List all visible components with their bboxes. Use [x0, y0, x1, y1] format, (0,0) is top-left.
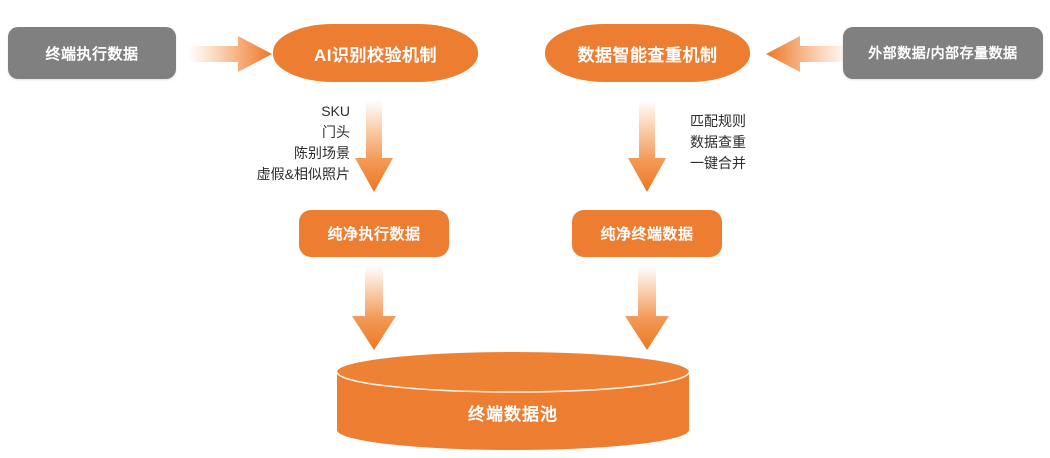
- source-box-label: 外部数据/内部存量数据: [868, 43, 1017, 63]
- criteria-item: SKU: [190, 101, 350, 122]
- arrow-mechanism-left-to-result: [355, 100, 393, 192]
- arrow-result-right-to-pool: [625, 266, 669, 350]
- criteria-item: 一键合并: [690, 153, 850, 174]
- source-box-external-internal-data[interactable]: 外部数据/内部存量数据: [843, 27, 1043, 79]
- criteria-item: 匹配规则: [690, 111, 850, 132]
- source-box-label: 终端执行数据: [45, 43, 138, 64]
- criteria-item: 数据查重: [690, 132, 850, 153]
- criteria-item: 陈别场景: [190, 143, 350, 164]
- criteria-item: 门头: [190, 122, 350, 143]
- diagram-canvas: 终端执行数据 AI识别校验机制 数据智能查重机制: [0, 0, 1050, 458]
- mechanism-label: 数据智能查重机制: [578, 41, 718, 66]
- arrow-mechanism-right-to-result: [628, 100, 666, 192]
- mechanism-data-dedup[interactable]: 数据智能查重机制: [545, 24, 750, 82]
- criteria-item: 虚假&相似照片: [190, 164, 350, 185]
- result-box-label: 纯净执行数据: [327, 223, 420, 244]
- arrow-source-left-to-mechanism: [188, 36, 272, 72]
- result-box-clean-execution-data[interactable]: 纯净执行数据: [299, 210, 449, 257]
- source-box-terminal-execution-data[interactable]: 终端执行数据: [8, 27, 176, 79]
- criteria-list-left: SKU 门头 陈别场景 虚假&相似照片: [190, 101, 350, 185]
- result-box-label: 纯净终端数据: [600, 223, 693, 244]
- arrow-result-left-to-pool: [352, 266, 396, 350]
- arrow-source-right-to-mechanism: [766, 36, 850, 72]
- mechanism-label: AI识别校验机制: [314, 41, 437, 66]
- terminal-data-pool[interactable]: 终端数据池: [337, 352, 689, 450]
- criteria-list-right: 匹配规则 数据查重 一键合并: [690, 111, 850, 174]
- result-box-clean-terminal-data[interactable]: 纯净终端数据: [572, 210, 722, 257]
- mechanism-ai-recognition-validation[interactable]: AI识别校验机制: [273, 24, 478, 82]
